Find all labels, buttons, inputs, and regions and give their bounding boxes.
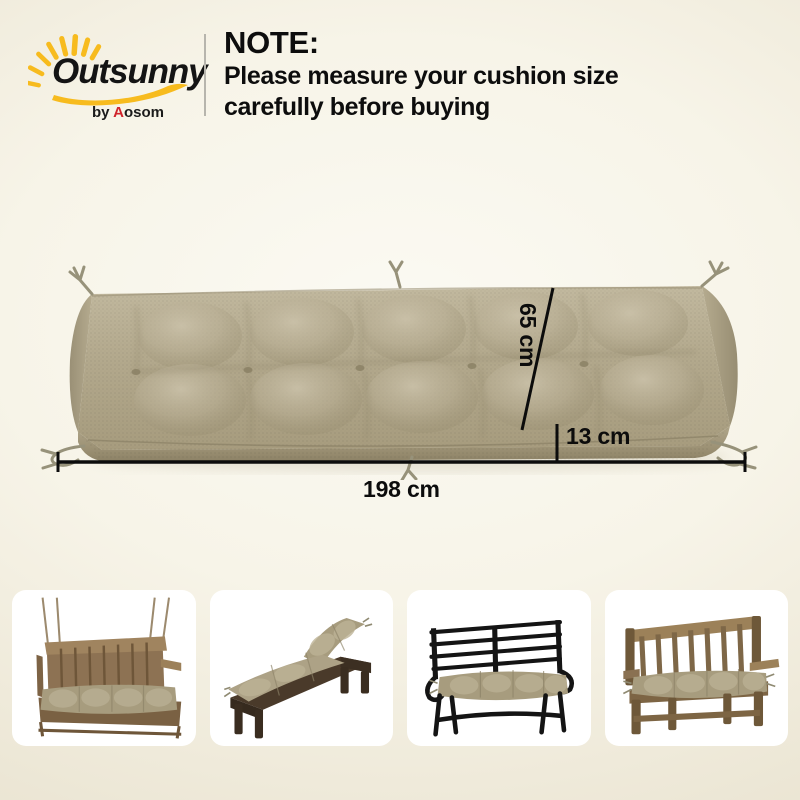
wooden-garden-bench-with-cushion-icon	[605, 590, 789, 746]
aosom-rest: osom	[124, 104, 164, 121]
porch-swing-with-cushion-icon	[12, 590, 196, 746]
thumbnail-iron-bench[interactable]	[407, 590, 591, 746]
thumbnail-wooden-bench[interactable]	[605, 590, 789, 746]
product-stage	[0, 150, 800, 570]
cushion-illustration	[40, 250, 760, 480]
rattan-chaise-lounge-with-cushion-icon	[210, 590, 394, 746]
note-line-2: carefully before buying	[224, 92, 764, 123]
bench-cushion-image	[40, 250, 760, 480]
header-divider	[204, 34, 206, 116]
logo-parent-brand: by Aosom	[92, 104, 164, 121]
note-title: NOTE:	[224, 26, 764, 61]
application-thumbnails	[0, 590, 800, 746]
wrought-iron-bench-with-cushion-icon	[407, 590, 591, 746]
aosom-a-letter: A	[113, 104, 124, 121]
outsunny-logo: Outsunny by Aosom	[28, 32, 188, 117]
by-label: by	[92, 104, 113, 121]
note-text-block: NOTE: Please measure your cushion size c…	[224, 26, 764, 123]
thumbnail-chaise-lounge[interactable]	[210, 590, 394, 746]
thumbnail-porch-swing[interactable]	[12, 590, 196, 746]
note-line-1: Please measure your cushion size	[224, 61, 764, 92]
header-banner: Outsunny by Aosom NOTE: Please measure y…	[0, 0, 800, 150]
